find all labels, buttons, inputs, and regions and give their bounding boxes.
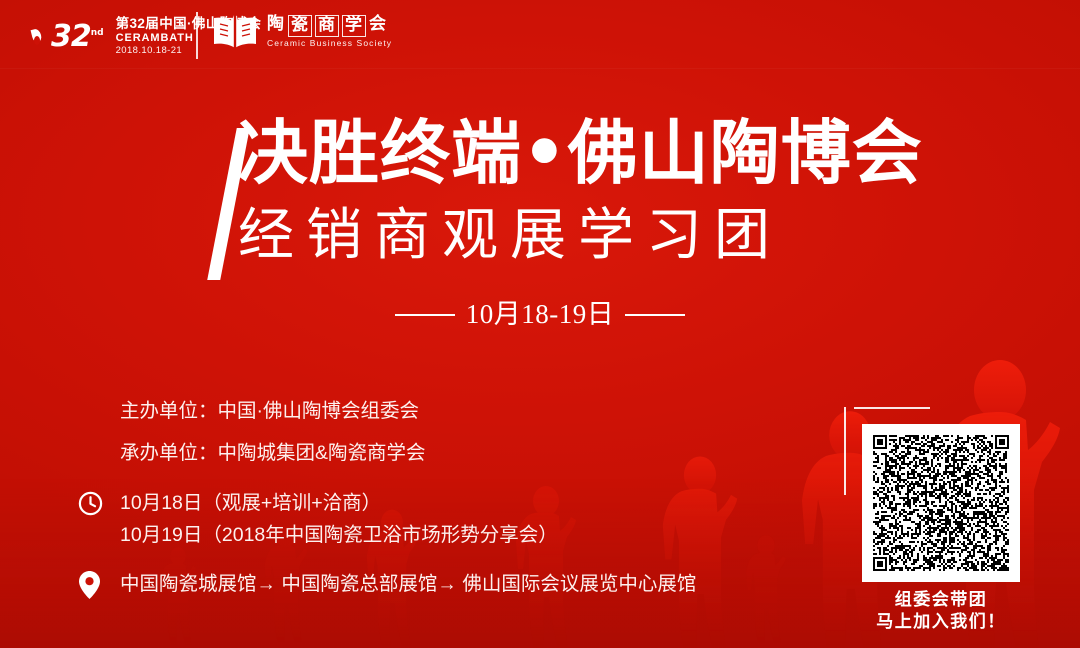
logo-divider (196, 12, 198, 59)
organizer-row: 主办单位： 中国·佛山陶博会组委会 (0, 402, 1080, 422)
organizer-label: 主办单位： (120, 402, 218, 422)
qr-caption-line2: 马上加入我们！ (862, 611, 1020, 633)
page-subtitle: 经销商观展学习团 (238, 208, 782, 264)
cbs-char-1: 瓷 (288, 15, 312, 37)
edition-number: 32nd (51, 22, 104, 52)
location-text: 中国陶瓷城展馆→ 中国陶瓷总部展馆→ 佛山国际会议展览中心展馆 (108, 575, 696, 595)
poster-canvas: 32nd 第32届中国·佛山陶博会 CERAMBATH 2018.10.18-2… (0, 0, 1080, 648)
date-label: 10月18-19日 (466, 301, 615, 328)
ceramic-business-society-logo: 陶 瓷 商 学 会 Ceramic Business Society (212, 14, 392, 50)
poster-header: 32nd 第32届中国·佛山陶博会 CERAMBATH 2018.10.18-2… (0, 0, 1080, 72)
co-organizer-label: 承办单位： (120, 444, 218, 464)
edition-superscript: nd (91, 28, 104, 38)
qr-block: 组委会带团 马上加入我们！ (862, 424, 1020, 634)
qr-caption-line1: 组委会带团 (862, 589, 1020, 611)
flame-icon (30, 27, 43, 47)
open-book-icon (212, 15, 258, 49)
schedule-day2: 10月19日（2018年中国陶瓷卫浴市场形势分享会） (120, 526, 558, 546)
cbs-char-2: 商 (315, 15, 339, 37)
cbs-title-en: Ceramic Business Society (267, 37, 392, 51)
schedule-day1: 10月18日（观展+培训+洽商） (108, 494, 381, 514)
organizer-value: 中国·佛山陶博会组委会 (218, 402, 420, 422)
date-rule-right (625, 314, 685, 316)
page-title: 决胜终端•佛山陶博会 (238, 118, 923, 188)
cbs-char-4: 会 (369, 15, 387, 37)
qr-caption: 组委会带团 马上加入我们！ (862, 589, 1020, 634)
cbs-title-cn: 陶 瓷 商 学 会 (267, 15, 392, 37)
co-organizer-value: 中陶城集团&陶瓷商学会 (218, 444, 426, 464)
clock-icon (78, 491, 108, 516)
qr-code[interactable] (862, 424, 1020, 582)
date-banner: 10月18-19日 (0, 301, 1080, 328)
date-rule-left (395, 314, 455, 316)
cbs-char-3: 学 (342, 15, 366, 37)
cbs-char-0: 陶 (267, 15, 285, 37)
map-pin-icon (78, 570, 108, 600)
